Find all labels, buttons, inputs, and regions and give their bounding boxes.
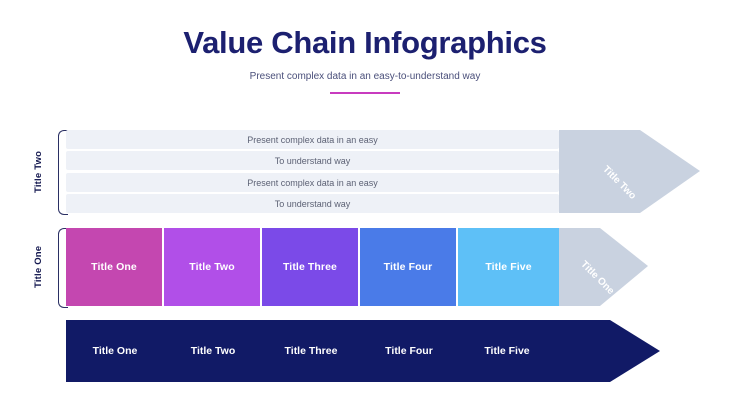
stage-box-5[interactable]: Title Five [458,228,559,306]
bottom-cell-3[interactable]: Title Three [262,320,360,382]
bottom-cell-label: Title Five [484,345,529,357]
description-strip: To understand way [66,194,559,213]
row-label-title-two: Title Two [33,130,44,213]
bottom-cell-label: Title Three [285,345,338,357]
bottom-cell-label: Title Two [191,345,236,357]
description-strip: Present complex data in an easy [66,130,559,149]
description-strip: To understand way [66,151,559,170]
bottom-cell-5[interactable]: Title Five [458,320,556,382]
bottom-cell-label: Title One [93,345,138,357]
value-chain-diagram: Title Two Title One Present complex data… [0,118,730,408]
row-label-title-one: Title One [33,228,44,306]
stage-box-label: Title Five [485,261,531,273]
title-underline-rule [330,92,400,94]
stage-box-2[interactable]: Title Two [164,228,260,306]
arrow-head-bottom [555,320,660,382]
page-title: Value Chain Infographics [0,26,730,60]
bottom-cell-4[interactable]: Title Four [360,320,458,382]
stage-box-3[interactable]: Title Three [262,228,358,306]
bottom-cell-2[interactable]: Title Two [164,320,262,382]
description-strip: Present complex data in an easy [66,173,559,192]
bottom-cell-label: Title Four [385,345,433,357]
stage-box-label: Title Four [384,261,433,273]
bottom-navy-band: Title One Title Two Title Three Title Fo… [66,320,556,382]
stage-box-label: Title One [91,261,137,273]
arrow-head-middle [559,228,648,306]
stage-box-label: Title Two [189,261,234,273]
header: Value Chain Infographics Present complex… [0,0,730,94]
page-subtitle: Present complex data in an easy-to-under… [0,71,730,83]
stage-box-label: Title Three [283,261,337,273]
stage-box-4[interactable]: Title Four [360,228,456,306]
bottom-cell-1[interactable]: Title One [66,320,164,382]
stage-box-1[interactable]: Title One [66,228,162,306]
